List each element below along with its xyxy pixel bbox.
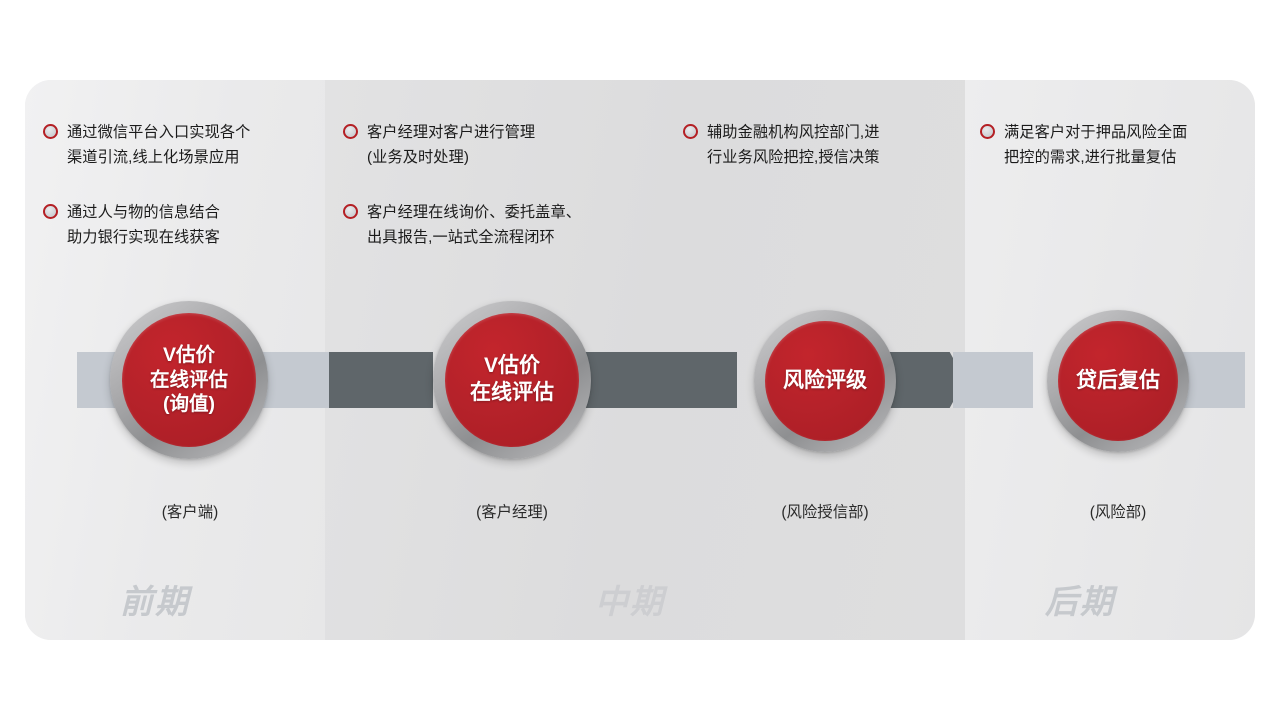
- bullet-text: 通过人与物的信息结合 助力银行实现在线获客: [67, 200, 220, 250]
- band-segment-1-dark: [329, 352, 433, 408]
- node-caption-4: (风险部): [1013, 500, 1223, 522]
- bullet-ring-icon: [43, 204, 58, 219]
- list-item: 满足客户对于押品风险全面 把控的需求,进行批量复估: [980, 120, 1248, 170]
- bullet-text: 客户经理在线询价、委托盖章、 出具报告,一站式全流程闭环: [367, 200, 581, 250]
- node-caption-3: (风险授信部): [720, 500, 930, 522]
- stage-label-late: 后期: [1045, 575, 1115, 623]
- node-disc: 风险评级: [765, 321, 885, 441]
- stage-label-early: 前期: [120, 575, 190, 623]
- list-item: 客户经理对客户进行管理 (业务及时处理): [343, 120, 648, 170]
- bullet-list-col-3: 辅助金融机构风控部门,进 行业务风险把控,授信决策: [683, 120, 951, 192]
- bullet-text: 辅助金融机构风控部门,进 行业务风险把控,授信决策: [707, 120, 879, 170]
- node-disc: V估价 在线评估: [445, 313, 579, 447]
- bullet-text: 客户经理对客户进行管理 (业务及时处理): [367, 120, 535, 170]
- stage-label-mid: 中期: [595, 575, 665, 623]
- node-label: 贷后复估: [1076, 368, 1160, 395]
- node-label: V估价 在线评估: [470, 353, 554, 407]
- diagram-canvas: 通过微信平台入口实现各个 渠道引流,线上化场景应用 通过人与物的信息结合 助力银…: [0, 0, 1280, 720]
- process-flow-panel: 通过微信平台入口实现各个 渠道引流,线上化场景应用 通过人与物的信息结合 助力银…: [25, 80, 1255, 640]
- process-node-1[interactable]: V估价 在线评估 (询值): [110, 301, 268, 459]
- bullet-text: 满足客户对于押品风险全面 把控的需求,进行批量复估: [1004, 120, 1187, 170]
- band-segment-3-light: [953, 352, 1033, 408]
- list-item: 客户经理在线询价、委托盖章、 出具报告,一站式全流程闭环: [343, 200, 648, 250]
- list-item: 通过人与物的信息结合 助力银行实现在线获客: [43, 200, 325, 250]
- node-disc: V估价 在线评估 (询值): [122, 313, 256, 447]
- node-outer-ring: 风险评级: [754, 310, 896, 452]
- bullet-list-col-1: 通过微信平台入口实现各个 渠道引流,线上化场景应用 通过人与物的信息结合 助力银…: [43, 120, 325, 272]
- bullet-list-col-2: 客户经理对客户进行管理 (业务及时处理) 客户经理在线询价、委托盖章、 出具报告…: [343, 120, 648, 272]
- bullet-ring-icon: [343, 124, 358, 139]
- node-caption-1: (客户端): [85, 500, 295, 522]
- bullet-ring-icon: [980, 124, 995, 139]
- bullet-ring-icon: [43, 124, 58, 139]
- node-disc: 贷后复估: [1058, 321, 1178, 441]
- list-item: 辅助金融机构风控部门,进 行业务风险把控,授信决策: [683, 120, 951, 170]
- process-node-2[interactable]: V估价 在线评估: [433, 301, 591, 459]
- node-outer-ring: 贷后复估: [1047, 310, 1189, 452]
- bullet-text: 通过微信平台入口实现各个 渠道引流,线上化场景应用: [67, 120, 250, 170]
- bullet-ring-icon: [343, 204, 358, 219]
- list-item: 通过微信平台入口实现各个 渠道引流,线上化场景应用: [43, 120, 325, 170]
- bullet-ring-icon: [683, 124, 698, 139]
- node-outer-ring: V估价 在线评估 (询值): [110, 301, 268, 459]
- process-node-3[interactable]: 风险评级: [754, 310, 896, 452]
- process-node-4[interactable]: 贷后复估: [1047, 310, 1189, 452]
- bullet-list-col-4: 满足客户对于押品风险全面 把控的需求,进行批量复估: [980, 120, 1248, 192]
- node-outer-ring: V估价 在线评估: [433, 301, 591, 459]
- node-label: V估价 在线评估 (询值): [150, 343, 228, 418]
- node-caption-2: (客户经理): [407, 500, 617, 522]
- node-label: 风险评级: [783, 368, 867, 395]
